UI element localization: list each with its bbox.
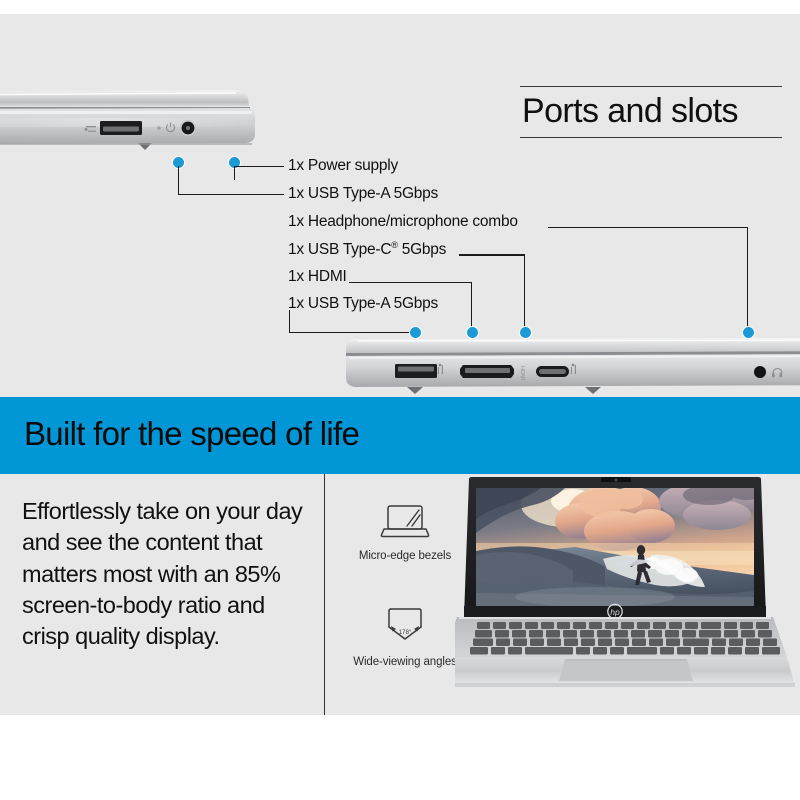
- callout-label-hdmi: 1x HDMI: [288, 269, 347, 285]
- body-copy: Effortlessly take on your day and see th…: [22, 496, 307, 652]
- feature-label-wide-viewing-angles: Wide-viewing angles: [340, 655, 470, 670]
- leader-usb-a-bot-h: [289, 332, 416, 334]
- callout-label-usb-c: 1x USB Type-C® 5Gbps: [288, 241, 446, 258]
- laptop-hero-image: hp: [455, 474, 800, 715]
- callout-label-usb-a-top: 1x USB Type-A 5Gbps: [288, 186, 438, 202]
- svg-text:HDMI: HDMI: [519, 366, 525, 381]
- viewing-angle-icon: 178°: [340, 602, 470, 650]
- features-panel: Effortlessly take on your day and see th…: [0, 474, 800, 715]
- banner-title: Built for the speed of life: [24, 414, 359, 454]
- leader-power-supply-v: [234, 166, 236, 180]
- marketing-panel-root: Ports and slots: [0, 0, 800, 800]
- leader-usb-a-bot-v: [289, 310, 291, 333]
- laptop-bezel-icon: [340, 496, 470, 544]
- leader-hdmi-v: [471, 282, 473, 333]
- ports-title-block: Ports and slots: [520, 86, 782, 138]
- tagline-banner: Built for the speed of life: [0, 397, 800, 474]
- laptop-bottom-edge-image: HDMI: [345, 336, 800, 397]
- title-rule-bottom: [520, 137, 782, 138]
- leader-usb-c-v: [524, 254, 526, 332]
- leader-power-supply-h: [234, 166, 284, 168]
- leader-usb-a-top-h: [178, 194, 284, 196]
- ports-and-slots-panel: Ports and slots: [0, 14, 800, 397]
- leader-headphone-h: [548, 227, 748, 229]
- leader-headphone-v: [747, 227, 749, 333]
- svg-text:hp: hp: [610, 607, 620, 617]
- viewing-angle-value: 178°: [399, 629, 412, 636]
- column-divider: [324, 474, 325, 715]
- leader-hdmi-h: [349, 282, 472, 284]
- leader-usb-c-h: [459, 254, 525, 256]
- callout-label-headphone-combo: 1x Headphone/microphone combo: [288, 214, 518, 230]
- feature-wide-viewing-angles: 178° Wide-viewing angles: [340, 602, 470, 670]
- feature-label-micro-edge-bezels: Micro-edge bezels: [340, 549, 470, 564]
- callout-label-usb-a-bottom: 1x USB Type-A 5Gbps: [288, 296, 438, 312]
- feature-micro-edge-bezels: Micro-edge bezels: [340, 496, 470, 564]
- page-title: Ports and slots: [520, 87, 782, 137]
- laptop-top-edge-image: [0, 88, 270, 160]
- callout-label-power-supply: 1x Power supply: [288, 158, 398, 174]
- leader-usb-a-top-v: [178, 166, 180, 195]
